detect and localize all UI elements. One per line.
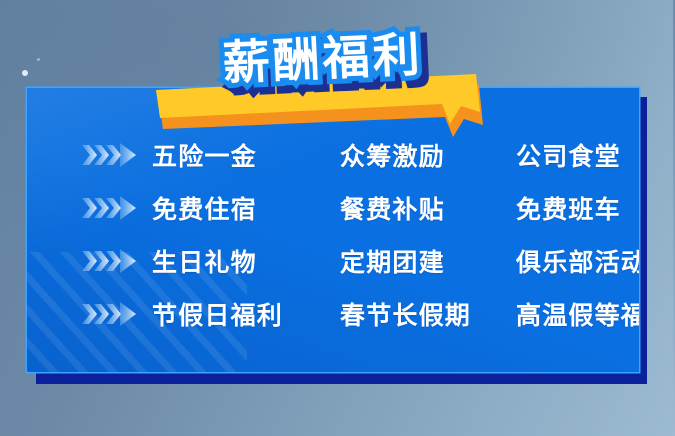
benefits-row-items: 节假日福利 春节长假期 高温假等福利 xyxy=(152,296,639,332)
benefits-row: 免费住宿 餐费补贴 免费班车 xyxy=(27,181,639,234)
benefit-item: 餐费补贴 xyxy=(340,190,516,226)
benefit-item: 生日礼物 xyxy=(152,243,340,279)
benefits-row: 生日礼物 定期团建 俱乐部活动 xyxy=(27,234,639,287)
benefits-row-items: 免费住宿 餐费补贴 免费班车 xyxy=(152,190,639,226)
title-banner-shape xyxy=(150,12,495,130)
benefit-item: 春节长假期 xyxy=(340,296,516,332)
decorative-dot xyxy=(22,70,28,76)
triple-chevron-right-icon xyxy=(82,301,144,327)
benefits-poster: 五险一金 众筹激励 公司食堂 免费住宿 餐费补贴 xyxy=(0,0,675,436)
benefit-item: 高温假等福利 xyxy=(516,296,639,332)
triple-chevron-right-icon xyxy=(82,142,144,168)
triple-chevron-right-icon xyxy=(82,195,144,221)
title-banner xyxy=(150,12,495,130)
benefit-item: 免费住宿 xyxy=(152,190,340,226)
benefit-item: 众筹激励 xyxy=(340,137,516,173)
benefit-item: 免费班车 xyxy=(516,190,621,226)
benefit-item: 公司食堂 xyxy=(516,137,621,173)
benefits-row-items: 生日礼物 定期团建 俱乐部活动 xyxy=(152,243,639,279)
decorative-dot-small xyxy=(37,58,40,61)
benefit-item: 节假日福利 xyxy=(152,296,340,332)
benefits-row: 节假日福利 春节长假期 高温假等福利 xyxy=(27,287,639,340)
benefit-item: 俱乐部活动 xyxy=(516,243,639,279)
benefits-row-items: 五险一金 众筹激励 公司食堂 xyxy=(152,137,639,173)
benefit-item: 定期团建 xyxy=(340,243,516,279)
triple-chevron-right-icon xyxy=(82,248,144,274)
benefit-item: 五险一金 xyxy=(152,137,340,173)
